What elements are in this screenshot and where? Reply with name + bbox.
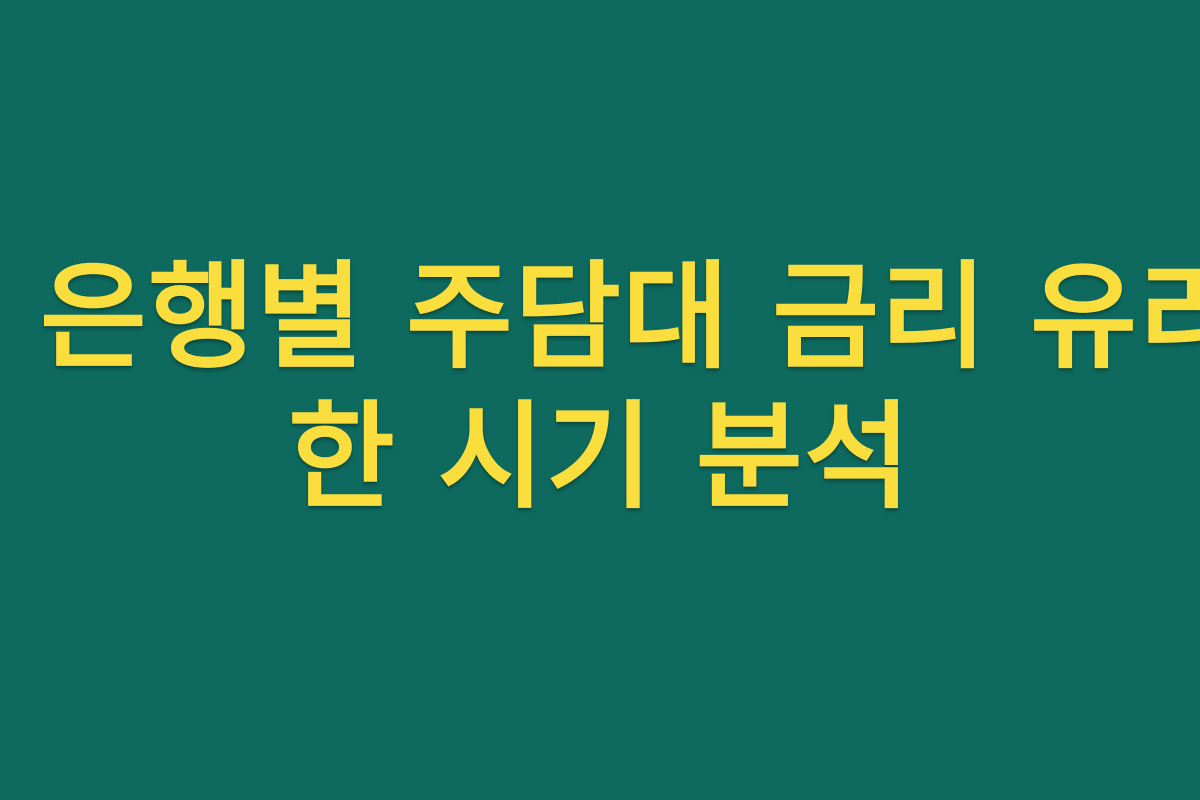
headline-line-2: 한 시기 분석 bbox=[40, 388, 1160, 528]
headline-block: 은행별 주담대 금리 유리 한 시기 분석 bbox=[0, 248, 1200, 528]
title-card: 은행별 주담대 금리 유리 한 시기 분석 bbox=[0, 0, 1200, 800]
headline-line-1: 은행별 주담대 금리 유리 bbox=[40, 248, 1160, 388]
